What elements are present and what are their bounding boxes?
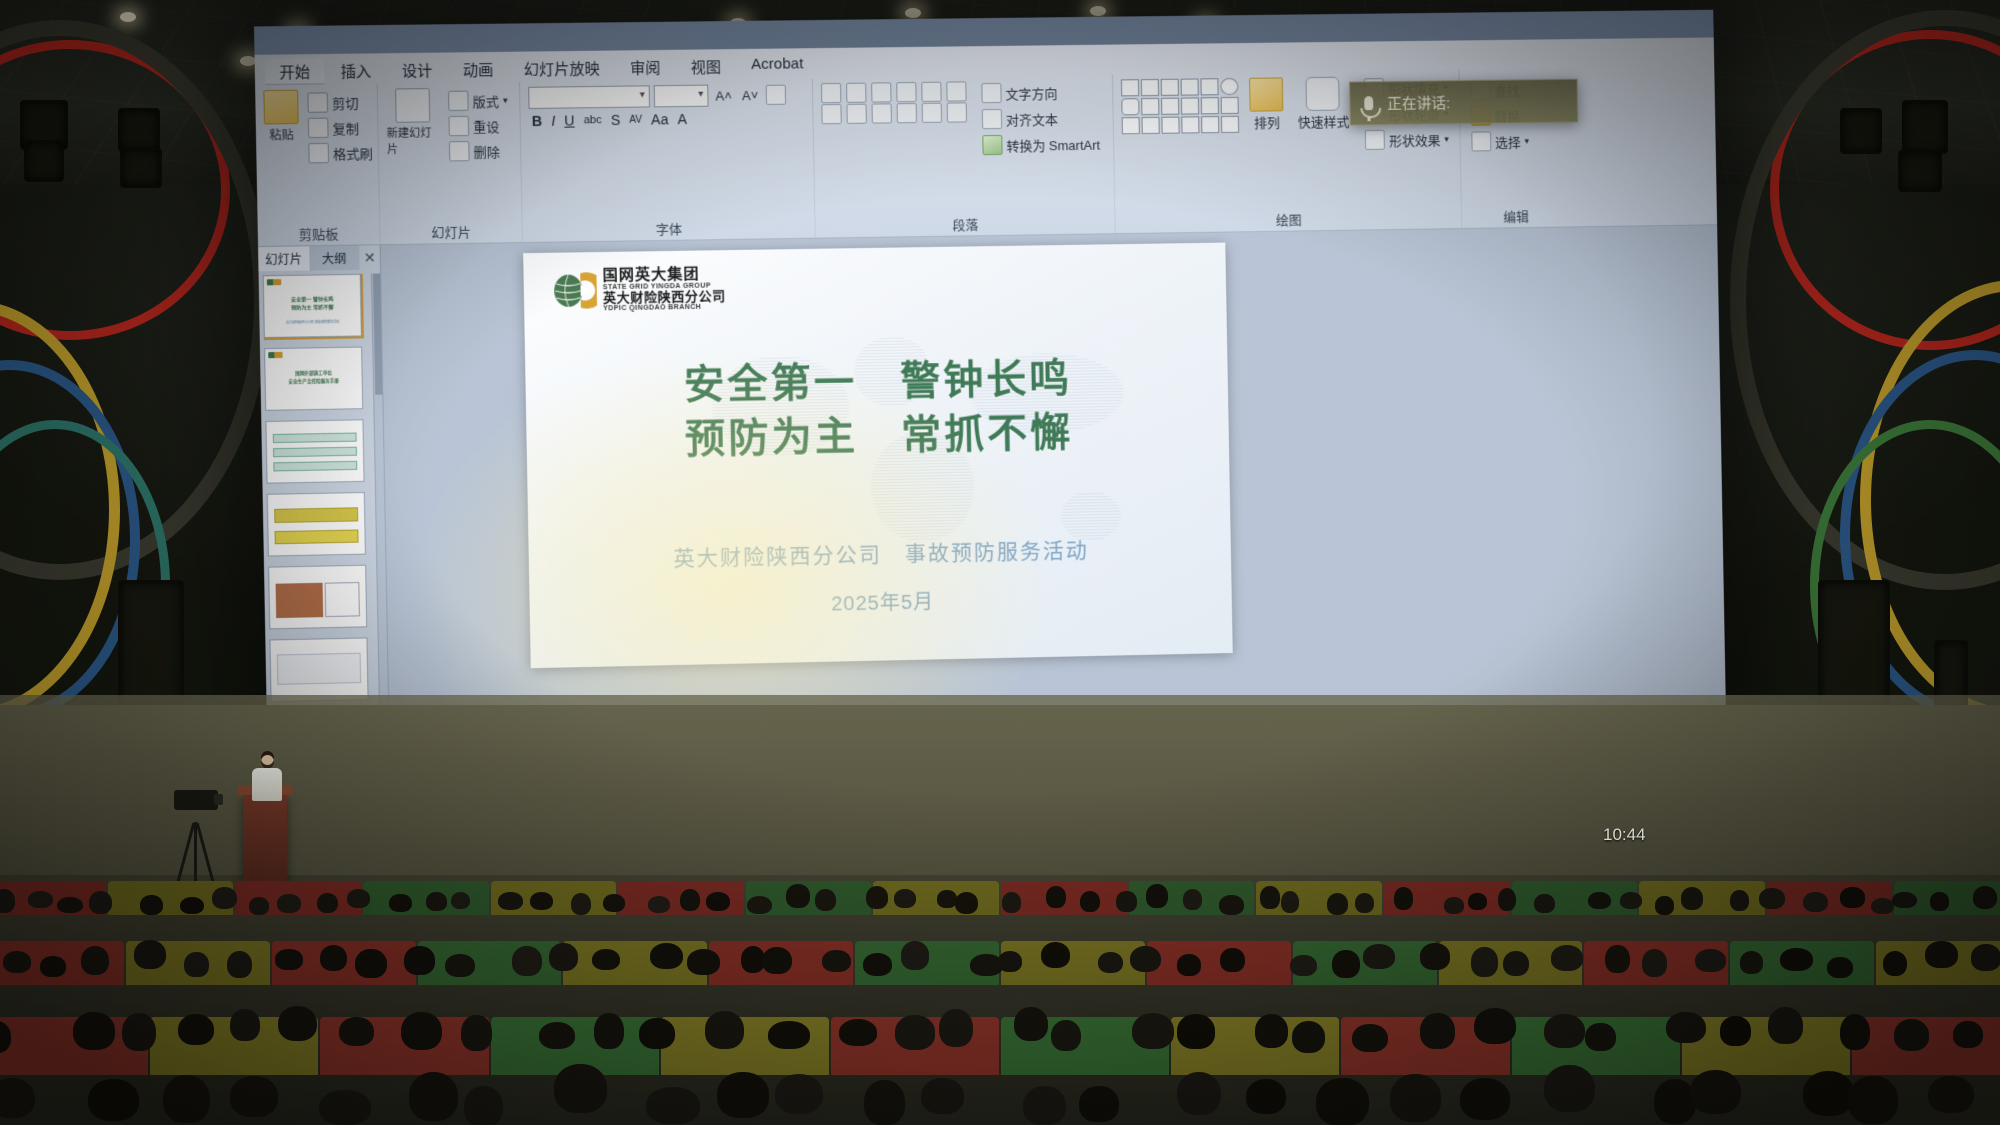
audience-head <box>1041 942 1071 969</box>
audience-head <box>1871 898 1894 915</box>
thumb-content-bar <box>275 529 359 544</box>
format-painter-button[interactable]: 格式刷 <box>305 141 376 164</box>
audience-head <box>1925 941 1957 968</box>
audience-head <box>1444 897 1464 914</box>
text-direction-icon <box>981 83 1001 103</box>
audience-head <box>355 949 387 978</box>
line-shape-icon[interactable] <box>1161 79 1179 96</box>
triangle-shape-icon[interactable] <box>1141 98 1159 115</box>
layout-icon <box>448 91 469 111</box>
audience-head <box>249 897 270 914</box>
audience-head <box>1503 951 1529 977</box>
left-brace-shape-icon[interactable] <box>1201 116 1219 133</box>
audience-head <box>955 892 978 914</box>
tab-home[interactable]: 开始 <box>265 58 325 85</box>
line-spacing-icon[interactable] <box>921 82 941 102</box>
elbow-arrow-icon[interactable] <box>1181 97 1199 114</box>
new-slide-button[interactable]: 新建幻灯片 <box>386 88 440 157</box>
scribble-shape-icon[interactable] <box>1142 117 1160 134</box>
audience-head <box>1585 1023 1615 1051</box>
audience-head <box>1690 1070 1741 1114</box>
audience-head <box>230 1076 278 1117</box>
thumb-content-bar <box>274 507 358 523</box>
shape-effects-label: 形状效果 <box>1389 130 1441 150</box>
curve-shape-icon[interactable] <box>1161 117 1179 134</box>
thumb-logo-icon <box>268 352 282 358</box>
format-painter-label: 格式刷 <box>333 143 373 163</box>
audience-head <box>1177 1014 1214 1049</box>
new-slide-icon <box>395 88 430 123</box>
shape-gallery[interactable] <box>1121 78 1239 134</box>
audience-head <box>1768 1007 1804 1044</box>
audience-head <box>864 1080 905 1124</box>
underline-button[interactable]: U <box>561 112 578 128</box>
audience-head <box>1471 947 1498 976</box>
copy-label: 复制 <box>332 118 359 138</box>
audience-head <box>939 1009 973 1047</box>
align-right-icon[interactable] <box>846 104 866 124</box>
audience-head <box>1220 948 1244 973</box>
microphone-icon <box>1364 96 1373 110</box>
speaker-box <box>118 108 160 152</box>
audience-head <box>73 1012 114 1050</box>
audience-head <box>775 1074 824 1114</box>
audience-head <box>539 1022 576 1049</box>
audience-head <box>937 890 956 908</box>
audience-head <box>409 1072 459 1120</box>
audience-head <box>895 1015 935 1049</box>
audience-head <box>1390 1074 1441 1122</box>
audience-head <box>1642 949 1668 976</box>
audience-head <box>680 889 699 911</box>
vertical-textbox-shape-icon[interactable] <box>1141 79 1159 96</box>
audience-head <box>445 954 475 977</box>
audience-head <box>1840 1014 1870 1050</box>
select-icon <box>1471 131 1491 151</box>
group-label-drawing: 绘图 <box>1115 207 1461 231</box>
audience-head <box>1051 1020 1081 1052</box>
audience-head <box>1352 1024 1388 1053</box>
audience-head <box>1534 894 1555 914</box>
audience-head <box>1971 944 2000 971</box>
font-size-input[interactable] <box>654 85 709 108</box>
align-text-icon <box>982 109 1002 129</box>
audience-head <box>646 1087 699 1123</box>
delete-icon <box>449 141 470 161</box>
audience-head <box>1605 945 1629 974</box>
thumb-content-bar <box>273 447 357 458</box>
audience-head <box>1327 893 1348 915</box>
font-color-button[interactable]: A <box>674 111 690 127</box>
audience-head <box>554 1064 607 1112</box>
numbering-icon[interactable] <box>846 83 866 103</box>
audience-head <box>1740 951 1763 974</box>
audience-head <box>347 889 370 908</box>
speaker-box <box>1840 108 1882 154</box>
align-left-icon[interactable] <box>946 81 966 101</box>
audience-head <box>639 1018 675 1049</box>
group-label-font: 字体 <box>523 217 815 240</box>
character-spacing-button[interactable]: AV <box>626 114 645 125</box>
strikethrough-button[interactable]: abc <box>581 114 605 126</box>
reset-icon <box>448 116 469 136</box>
audience-head <box>768 1021 810 1049</box>
oval-shape-icon[interactable] <box>1220 78 1238 95</box>
audience-head <box>1316 1078 1369 1125</box>
current-slide[interactable]: 国网英大集团 STATE GRID YINGDA GROUP 英大财险陕西分公司… <box>523 243 1233 669</box>
reset-button[interactable]: 重设 <box>445 114 511 137</box>
thumbnail-tabs: 幻灯片 大纲 ✕ <box>258 245 380 271</box>
thumb-title-line1: 国网外部施工单位 <box>265 370 361 378</box>
tab-acrobat[interactable]: Acrobat <box>737 52 818 79</box>
group-label-editing: 编辑 <box>1462 206 1570 226</box>
delete-label: 删除 <box>473 141 500 161</box>
audience-head <box>998 951 1022 972</box>
list-item[interactable] <box>268 565 367 630</box>
audience-head <box>530 892 553 910</box>
audience-head <box>140 895 163 915</box>
font-name-input[interactable] <box>528 85 650 109</box>
audience-head <box>180 897 204 914</box>
bold-button[interactable]: B <box>529 113 546 129</box>
elbow-connector-icon[interactable] <box>1161 98 1179 115</box>
audience-head <box>88 1079 139 1121</box>
tab-review[interactable]: 审阅 <box>616 54 675 81</box>
speaker-box <box>1902 100 1948 154</box>
audience-head <box>1468 893 1486 910</box>
arrange-label[interactable]: 排列 <box>1251 111 1283 132</box>
ribbon-group-font: A˄ A˅ B I U abc S AV Aa A <box>520 78 816 242</box>
smartart-icon <box>982 135 1002 155</box>
audience-head <box>1183 889 1202 910</box>
audience-head <box>1953 1021 1983 1048</box>
speaker-box <box>1898 150 1942 192</box>
right-arrow-shape-icon[interactable] <box>1201 97 1219 114</box>
quick-styles-label[interactable]: 快速样式 <box>1295 110 1353 132</box>
tab-slideshow[interactable]: 幻灯片放映 <box>509 55 614 82</box>
audience-head <box>461 1015 491 1051</box>
rectangle-shape-icon[interactable] <box>1200 78 1218 95</box>
audience-head <box>122 1013 156 1051</box>
columns-icon[interactable] <box>897 103 917 123</box>
group-label-clipboard: 剪贴板 <box>258 223 380 244</box>
audience-head <box>275 949 302 970</box>
audience-head <box>339 1017 374 1046</box>
audience-head <box>1551 945 1583 971</box>
audience-head <box>57 897 83 914</box>
chevron-down-icon: ▾ <box>503 95 508 106</box>
justify-icon[interactable] <box>872 103 892 123</box>
audience-head <box>1803 892 1828 912</box>
audience-head <box>1681 887 1703 910</box>
audience-head <box>1460 1078 1510 1121</box>
audience-head <box>40 956 66 977</box>
list-item[interactable]: 国网外部施工单位 安全生产责任险服务手册 <box>264 347 363 411</box>
convert-smartart-button[interactable]: 转换为 SmartArt <box>979 133 1103 157</box>
presenter-body <box>252 768 282 801</box>
grow-font-button[interactable]: A˄ <box>712 87 735 104</box>
audience-head <box>1848 1076 1898 1124</box>
audience-head <box>1080 891 1101 912</box>
speaker-box <box>120 148 162 188</box>
audience-head <box>1544 1014 1585 1049</box>
audience-head <box>28 891 53 908</box>
speaker-box <box>1818 580 1890 710</box>
ribbon-group-slides: 新建幻灯片 版式 ▾ 重设 <box>378 82 523 244</box>
audience-head <box>464 1086 503 1125</box>
thumb-logo-icon <box>267 279 281 285</box>
shape-effects-button[interactable]: 形状效果 ▾ <box>1362 128 1452 151</box>
audience-head <box>278 1006 317 1042</box>
ribbon: 开始 插入 设计 动画 幻灯片放映 审阅 视图 Acrobat <box>255 37 1718 247</box>
paragraph-icon-grid <box>821 81 970 158</box>
arc-shape-icon[interactable] <box>1181 116 1199 133</box>
audience-head <box>163 1075 210 1123</box>
presenter-head <box>261 755 274 769</box>
audience-head <box>89 891 112 914</box>
delete-slide-button[interactable]: 删除 <box>446 139 512 162</box>
audience-head <box>592 949 620 970</box>
change-case-button[interactable]: Aa <box>648 111 672 127</box>
audience-head <box>184 952 208 977</box>
audience-head <box>1498 888 1517 912</box>
audience-head <box>815 889 836 911</box>
audience-head <box>81 946 109 975</box>
audience-head <box>921 1078 964 1114</box>
audience-head <box>1928 1076 1974 1113</box>
audience-head <box>1355 893 1374 914</box>
new-slide-label: 新建幻灯片 <box>387 124 441 157</box>
audience-head <box>1014 1007 1048 1041</box>
bullets-icon[interactable] <box>821 83 841 103</box>
layout-button[interactable]: 版式 ▾ <box>445 89 511 112</box>
audience-head <box>705 1011 744 1048</box>
ceiling-light <box>905 8 921 18</box>
audience <box>0 825 2000 1125</box>
audience-head <box>1255 1014 1288 1048</box>
list-item[interactable]: 安全第一 警钟长鸣 预防为主 常抓不懈 英大财险陕西分公司 事故预防服务活动 <box>263 274 362 338</box>
audience-head <box>317 893 339 914</box>
audience-head <box>901 941 929 969</box>
audience-head <box>212 887 237 909</box>
audience-head <box>1730 890 1749 911</box>
text-direction-label: 文字方向 <box>1005 83 1057 103</box>
audience-head <box>227 951 252 978</box>
tab-animation[interactable]: 动画 <box>448 56 507 83</box>
audience-head <box>1132 1013 1174 1049</box>
list-item[interactable] <box>265 419 364 483</box>
audience-head <box>1474 1008 1516 1044</box>
audience-head <box>1666 1012 1706 1044</box>
quick-styles-icon <box>1306 77 1340 111</box>
layout-label: 版式 <box>472 91 499 110</box>
audience-head <box>230 1009 260 1041</box>
thumb-title-line1: 安全第一 警钟长鸣 <box>264 295 360 304</box>
audience-head <box>706 892 730 911</box>
clear-formatting-icon[interactable] <box>765 85 785 105</box>
audience-head <box>549 943 578 971</box>
audience-head <box>512 946 542 975</box>
audience-head <box>451 892 471 909</box>
textbox-shape-icon[interactable] <box>1121 79 1139 96</box>
distribute-icon[interactable] <box>922 103 942 123</box>
copy-icon <box>308 118 329 138</box>
audience-head <box>603 894 625 912</box>
ceiling-light <box>1090 6 1106 16</box>
audience-head <box>863 953 893 976</box>
audience-head <box>3 951 31 973</box>
down-arrow-shape-icon[interactable] <box>1221 97 1239 114</box>
auditorium-photo: 开始 插入 设计 动画 幻灯片放映 审阅 视图 Acrobat <box>0 0 2000 1125</box>
audience-head <box>401 1012 441 1050</box>
audience-head <box>1655 896 1674 915</box>
audience-head <box>822 950 850 972</box>
audience-head <box>1281 891 1300 913</box>
audience-head <box>1894 1019 1930 1051</box>
list-item[interactable] <box>269 637 368 702</box>
tab-design[interactable]: 设计 <box>387 57 447 84</box>
convert-smartart-label: 转换为 SmartArt <box>1006 134 1100 154</box>
text-align-icon[interactable] <box>947 102 967 122</box>
audience-head <box>1023 1086 1066 1125</box>
audience-head <box>866 886 888 909</box>
tab-outline[interactable]: 大纲 <box>309 246 360 271</box>
audience-head <box>687 949 720 975</box>
audience-head <box>1420 943 1450 970</box>
audience-head <box>1394 887 1413 910</box>
reset-label: 重设 <box>473 116 500 136</box>
audience-head <box>1260 886 1279 909</box>
align-center-icon[interactable] <box>821 104 841 124</box>
audience-head <box>1759 888 1785 909</box>
paste-button[interactable]: 粘贴 <box>263 90 299 144</box>
speaking-label: 正在讲话: <box>1387 92 1451 114</box>
audience-head <box>277 894 301 913</box>
audience-head <box>1803 1071 1855 1116</box>
slide-title[interactable]: 安全第一 警钟长鸣 预防为主 常抓不懈 <box>525 350 1229 470</box>
close-icon[interactable]: ✕ <box>359 245 380 270</box>
audience-head <box>1973 886 1997 909</box>
slide-logo: 国网英大集团 STATE GRID YINGDA GROUP 英大财险陕西分公司… <box>550 266 726 313</box>
tab-slides[interactable]: 幻灯片 <box>258 246 309 271</box>
audience-head <box>1292 1021 1326 1053</box>
cut-label: 剪切 <box>332 92 359 112</box>
right-brace-shape-icon[interactable] <box>1221 116 1239 133</box>
increase-indent-icon[interactable] <box>896 82 916 102</box>
audience-head <box>178 1014 214 1046</box>
cloud-shape-icon[interactable] <box>1122 117 1140 134</box>
audience-head <box>1177 1072 1221 1116</box>
audience-head <box>1246 1079 1286 1114</box>
cut-button[interactable]: 剪切 <box>304 91 375 114</box>
rounded-rect-shape-icon[interactable] <box>1121 98 1139 115</box>
paste-label: 粘贴 <box>269 126 294 144</box>
select-button[interactable]: 选择 ▾ <box>1468 129 1561 152</box>
audience-head <box>134 940 166 969</box>
tab-view[interactable]: 视图 <box>676 53 735 80</box>
audience-head <box>1363 944 1396 969</box>
audience-head <box>1046 886 1066 907</box>
chevron-down-icon: ▾ <box>1444 133 1449 144</box>
video-camera <box>174 790 218 810</box>
audience-head <box>1002 892 1022 913</box>
italic-button[interactable]: I <box>548 113 558 129</box>
brush-icon <box>308 143 329 163</box>
shape-effects-icon <box>1365 130 1385 150</box>
thumb-content-bar <box>277 653 361 685</box>
group-label-paragraph: 段落 <box>815 212 1114 235</box>
audience-head <box>747 896 773 914</box>
align-text-button[interactable]: 对齐文本 <box>979 107 1103 131</box>
audience-head <box>1146 884 1168 907</box>
thumb-content-bar <box>273 433 357 444</box>
decrease-indent-icon[interactable] <box>871 82 891 102</box>
scissors-icon <box>307 92 328 112</box>
copy-button[interactable]: 复制 <box>305 116 376 139</box>
shadow-button[interactable]: S <box>608 112 624 128</box>
audience-head <box>1290 955 1316 976</box>
audience-head <box>650 943 683 969</box>
paste-icon <box>263 90 298 125</box>
thumb-title-line2: 预防为主 常抓不懈 <box>264 303 360 312</box>
audience-head <box>1130 946 1162 972</box>
audience-head <box>1892 892 1917 909</box>
audience-head <box>404 946 435 974</box>
chevron-down-icon: ▾ <box>1524 135 1529 146</box>
presenter <box>252 755 282 801</box>
select-label: 选择 <box>1495 131 1521 150</box>
audience-head <box>571 893 591 915</box>
text-direction-button[interactable]: 文字方向 <box>978 81 1102 105</box>
audience-head <box>1098 952 1123 974</box>
audience-head <box>894 889 916 908</box>
audience-head <box>320 945 347 971</box>
audience-head <box>1840 887 1865 907</box>
audience-head <box>717 1072 769 1118</box>
audience-head <box>762 947 792 975</box>
audience-head <box>1588 892 1611 910</box>
logo-company-cn: 国网英大集团 <box>602 266 725 284</box>
audience-head <box>1332 950 1359 978</box>
audience-head <box>1219 895 1244 915</box>
thumb-table <box>325 582 360 617</box>
audience-head <box>1695 949 1726 972</box>
audience-head <box>389 894 412 912</box>
yingda-logo-icon <box>550 269 597 312</box>
audience-head <box>1116 891 1136 912</box>
ribbon-group-paragraph: 文字方向 对齐文本 转换为 SmartArt <box>813 75 1116 238</box>
taskbar-clock: 10:44 <box>1603 825 1646 845</box>
audience-head <box>1620 892 1642 909</box>
thumb-content-bar <box>273 461 357 472</box>
audience-head <box>1780 948 1812 971</box>
speaking-notification: 正在讲话: <box>1349 79 1578 126</box>
audience-head <box>319 1090 371 1125</box>
audience-head <box>1930 892 1948 911</box>
speaker-box <box>24 140 64 182</box>
audience-head <box>498 892 523 910</box>
audience-head <box>1827 957 1853 978</box>
audience-head <box>1079 1086 1118 1122</box>
arrange-icon <box>1249 77 1283 111</box>
thumb-image <box>276 583 324 618</box>
list-item[interactable] <box>267 492 366 557</box>
tab-insert[interactable]: 插入 <box>326 57 386 84</box>
arrow-shape-icon[interactable] <box>1181 78 1199 95</box>
audience-head <box>0 1078 35 1119</box>
shrink-font-button[interactable]: A˅ <box>739 86 762 103</box>
audience-head <box>839 1019 877 1046</box>
